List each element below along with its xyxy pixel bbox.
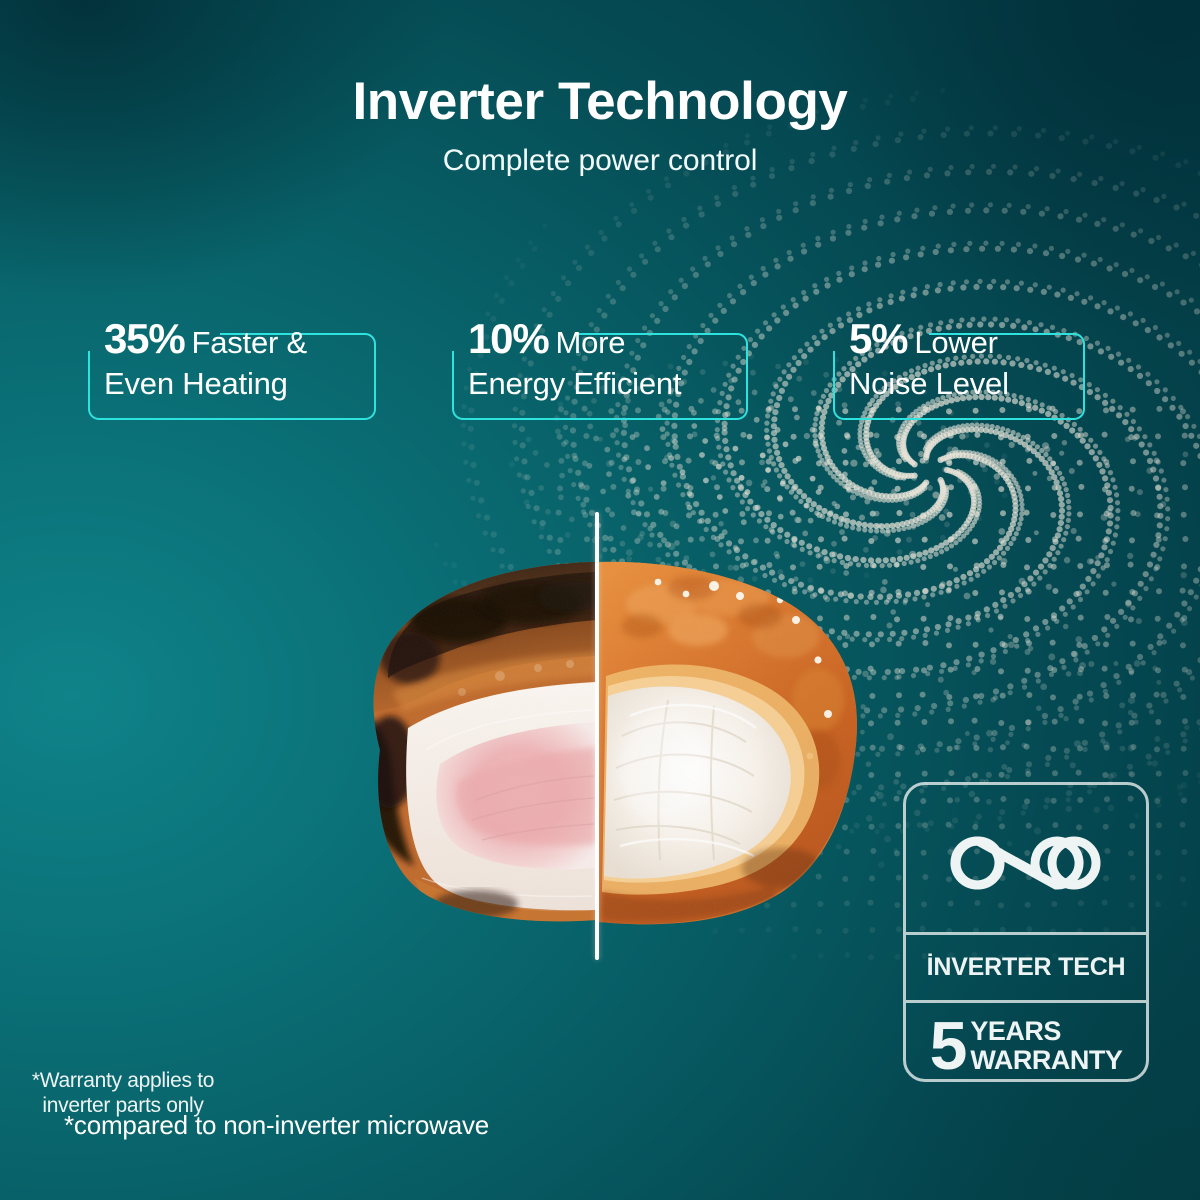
stat-badge-body: 10%More Energy Efficient [452,316,748,406]
stat-number: 5% [849,315,907,362]
header: Inverter Technology Complete power contr… [0,74,1200,178]
warranty-word: WARRANTY [970,1046,1122,1075]
inverter-tech-label: İNVERTER TECH [906,935,1146,1000]
comparison-footnote: *compared to non-inverter microwave [64,1110,489,1141]
food-left-burnt [352,540,612,940]
stat-word: Lower [914,325,997,360]
warranty-years-words: YEARS WARRANTY [970,1017,1122,1075]
stat-badge-line-1: 35%Faster & [104,316,362,362]
warranty-badge: İNVERTER TECH 5 YEARS WARRANTY [903,782,1149,1082]
stat-badge-line-1: 10%More [468,316,734,362]
stat-badge-noise-level: 5%Lower Noise Level [833,316,1085,420]
food-comparison-image [262,500,952,970]
stat-badge-line-1: 5%Lower [849,316,1071,362]
warranty-years-word: YEARS [970,1017,1122,1046]
food-right-cooked [592,540,872,940]
stat-badge-line-2: Noise Level [849,362,1071,406]
stat-badge-faster-heating: 35%Faster & Even Heating [88,316,376,420]
stat-badge-body: 5%Lower Noise Level [833,316,1085,406]
stat-badge-energy-efficient: 10%More Energy Efficient [452,316,748,420]
stat-badge-line-2: Energy Efficient [468,362,734,406]
warranty-years-block: 5 YEARS WARRANTY [906,1007,1146,1085]
stat-number: 10% [468,315,548,362]
warranty-years-number: 5 [930,1012,965,1080]
stat-word: Faster & [191,325,307,360]
stat-badge-line-2: Even Heating [104,362,362,406]
stat-number: 35% [104,315,184,362]
stat-word: More [555,325,625,360]
stat-badge-row: 35%Faster & Even Heating 10%More Energy … [0,316,1200,420]
warranty-note-line-1: *Warranty applies to [0,1068,260,1093]
stat-badge-body: 35%Faster & Even Heating [88,316,376,406]
page-subtitle: Complete power control [0,144,1200,178]
infinity-icon [906,799,1146,927]
infographic-canvas: Inverter Technology Complete power contr… [0,0,1200,1200]
badge-separator [906,1000,1146,1003]
page-title: Inverter Technology [0,74,1200,130]
comparison-divider-line [595,512,599,960]
